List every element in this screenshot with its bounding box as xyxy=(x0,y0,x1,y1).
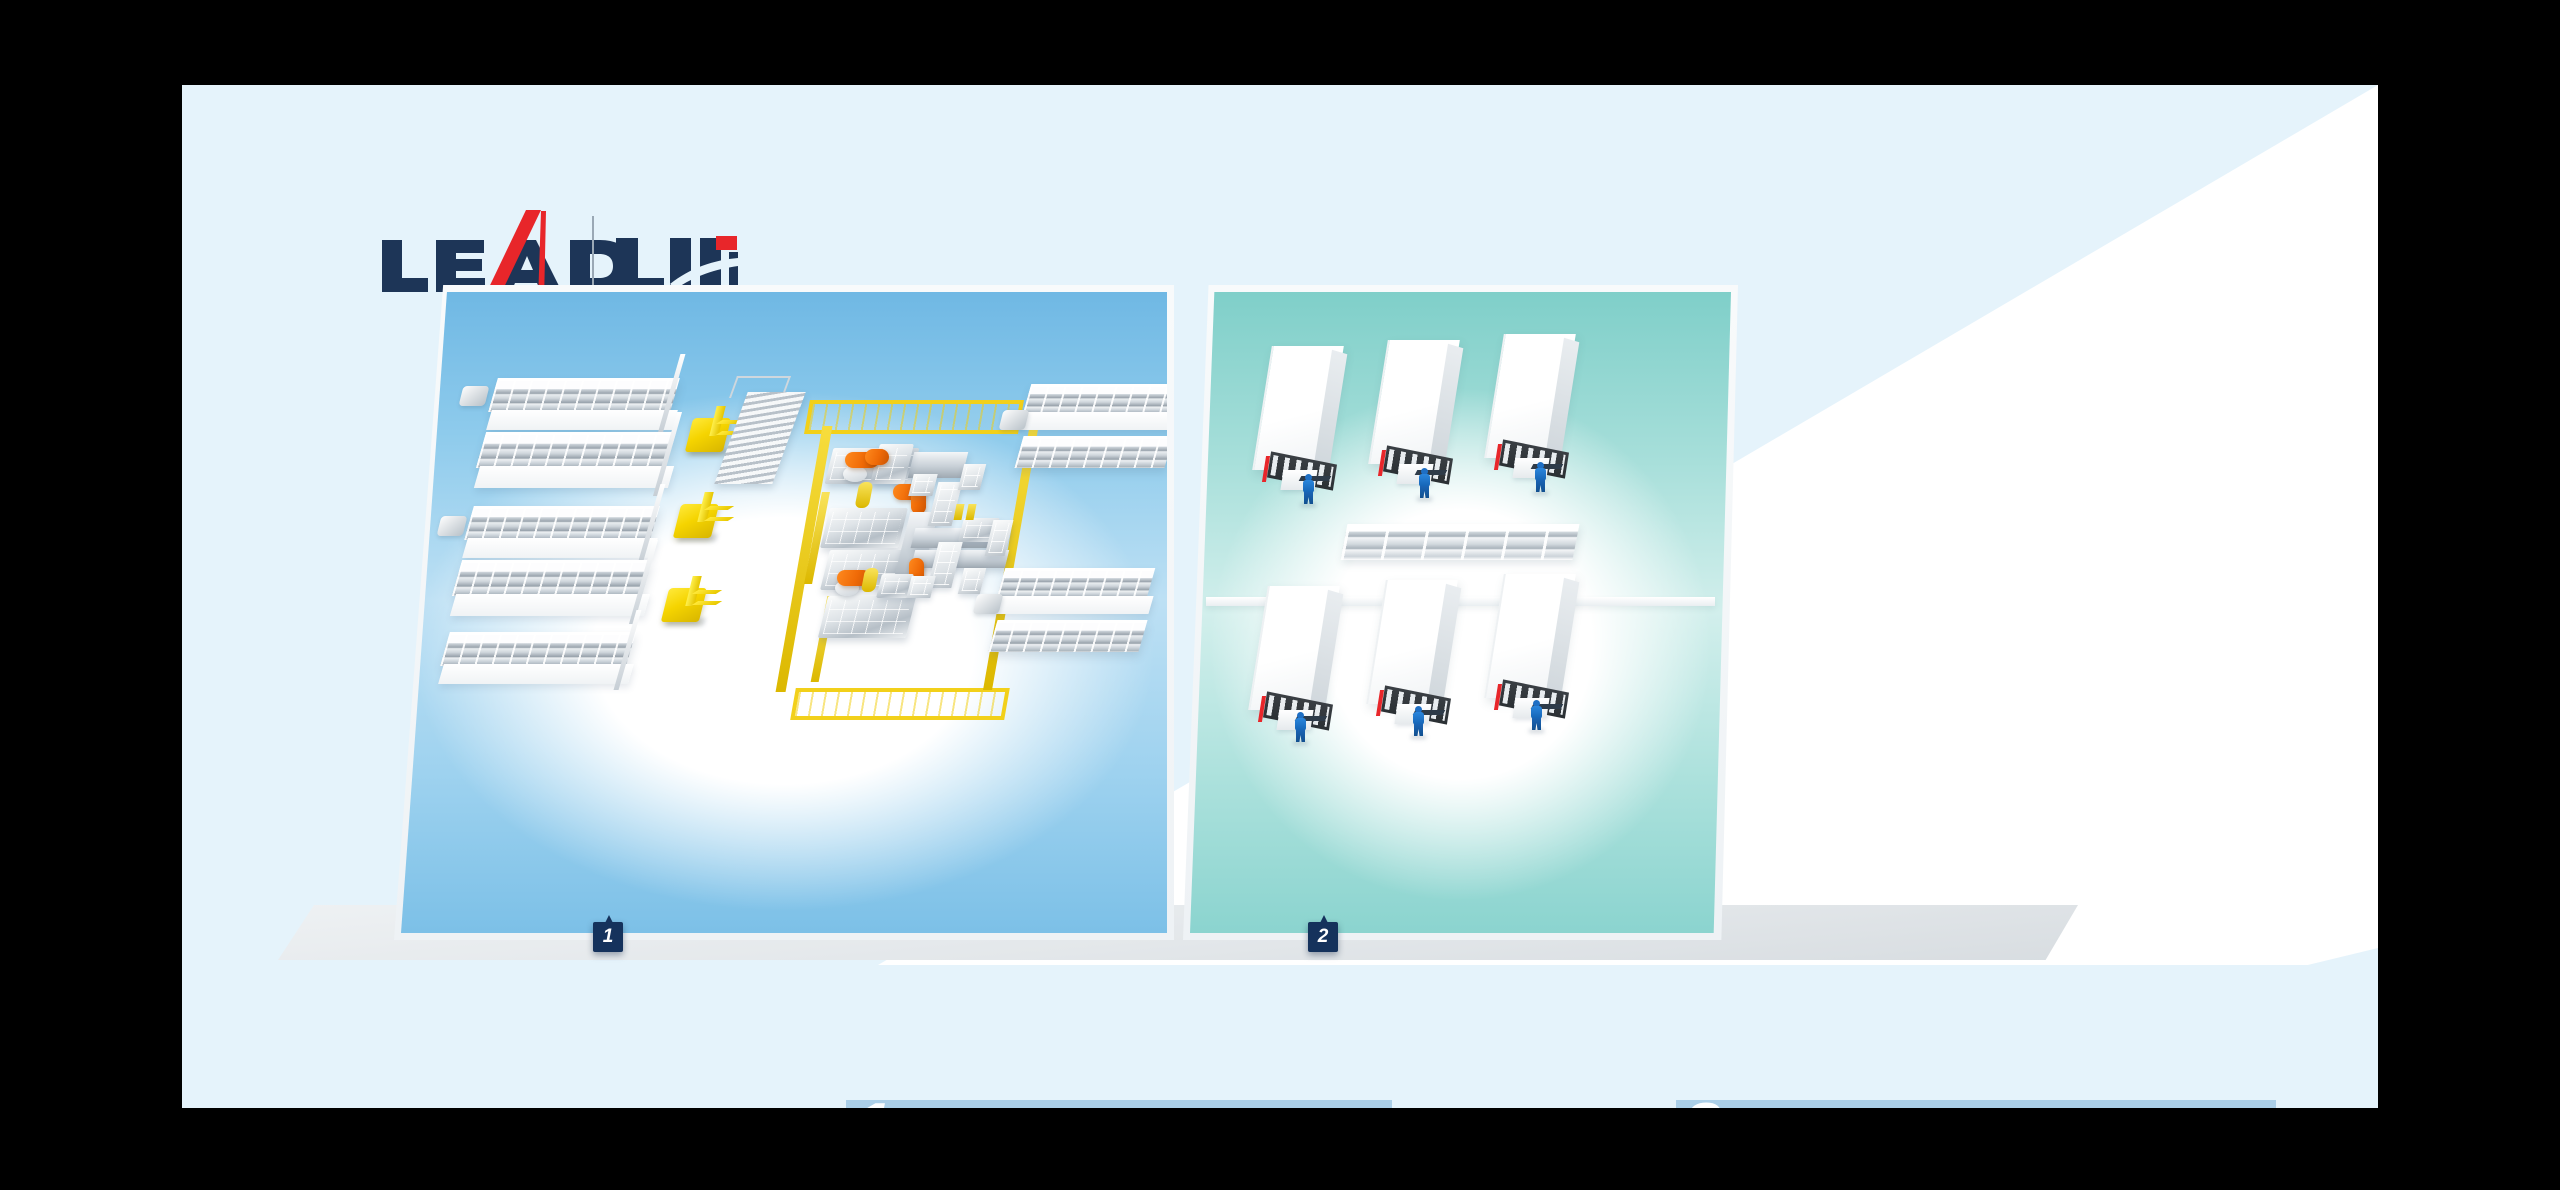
rack-shelf xyxy=(452,560,652,596)
floor-badge-1[interactable]: 1 xyxy=(593,922,623,952)
operator-torso xyxy=(1295,718,1306,731)
operator-torso xyxy=(1303,480,1314,493)
zone-2-floor xyxy=(1190,292,1731,933)
zone-1-floor xyxy=(401,292,1167,933)
agv-fork xyxy=(704,517,734,521)
storage-shelf-bank xyxy=(1341,524,1580,560)
test-chamber xyxy=(1262,346,1344,494)
equipment-cabinet xyxy=(958,568,986,594)
rack-base xyxy=(450,594,650,616)
rack-handling-robot xyxy=(437,516,468,536)
slide-canvas: 1 2 1 Stack & System Assembly 2 Stack Ac… xyxy=(182,85,2378,1108)
agv-fork xyxy=(692,590,722,594)
rack-shelf xyxy=(464,506,660,540)
operator-shadow xyxy=(1533,491,1548,495)
caption-1-number: 1 xyxy=(852,1093,892,1108)
rack-base xyxy=(438,664,634,684)
industrial-robot-arm xyxy=(865,449,889,465)
safety-fence-top xyxy=(804,400,1024,434)
stacking-machine xyxy=(820,508,908,548)
robot-pedestal xyxy=(843,466,867,482)
rack-shelf xyxy=(988,620,1147,652)
operator-torso xyxy=(1535,468,1546,481)
agv-forklift xyxy=(677,490,723,544)
cell-pillar xyxy=(953,504,964,520)
test-chamber xyxy=(1378,340,1460,488)
operator-figure xyxy=(1418,468,1431,498)
zone-1-stack-system-assembly[interactable] xyxy=(394,285,1174,940)
rack-shelf xyxy=(1014,436,1173,468)
operator-figure xyxy=(1294,712,1307,742)
rack-shelf xyxy=(476,432,676,468)
rack-shelf xyxy=(488,378,680,412)
agv-forklift xyxy=(665,574,711,628)
operator-figure xyxy=(1412,706,1425,736)
caption-1-background xyxy=(846,1100,1392,1108)
floor-badge-2[interactable]: 2 xyxy=(1308,922,1338,952)
material-cart xyxy=(906,576,935,598)
factory-floor-plan-3d: 1 2 xyxy=(278,285,2138,1025)
rack-base xyxy=(462,538,658,558)
rack-handling-robot xyxy=(973,594,1004,614)
agv-fork xyxy=(692,601,722,605)
operator-figure xyxy=(1534,462,1547,492)
rack-handling-robot xyxy=(999,410,1030,430)
test-chamber xyxy=(1494,334,1576,482)
operator-shadow xyxy=(1293,741,1308,745)
operator-torso xyxy=(1531,706,1542,719)
robot-arm-yellow xyxy=(854,482,873,508)
operator-shadow xyxy=(1301,503,1316,507)
safety-fence-bottom xyxy=(790,688,1010,720)
operator-torso xyxy=(1419,474,1430,487)
assembly-machine xyxy=(818,596,916,638)
caption-2-background xyxy=(1676,1100,2276,1108)
operator-shadow xyxy=(1417,497,1432,501)
agv-fork xyxy=(704,506,734,510)
rack-base xyxy=(486,410,678,430)
rack-base xyxy=(474,466,674,488)
robot-assembly-cell xyxy=(793,400,1021,720)
material-cart xyxy=(908,474,937,496)
operator-shadow xyxy=(1529,729,1544,733)
caption-zone-1[interactable]: 1 Stack & System Assembly xyxy=(846,1100,1392,1108)
rack-shelf xyxy=(440,632,636,666)
rack-base xyxy=(994,596,1153,614)
rack-handling-robot xyxy=(459,386,490,406)
operator-shadow xyxy=(1411,735,1426,739)
zone-2-stack-activation-test[interactable] xyxy=(1183,285,1738,940)
operator-figure xyxy=(1302,474,1315,504)
caption-2-number: 2 xyxy=(1682,1093,1722,1108)
rack-base xyxy=(1020,412,1174,430)
rack-shelf xyxy=(1023,384,1174,414)
rack-shelf xyxy=(997,568,1156,598)
caption-zone-2[interactable]: 2 Stack Activation & Test Station xyxy=(1676,1100,2276,1108)
operator-figure xyxy=(1530,700,1543,730)
operator-torso xyxy=(1413,712,1424,725)
